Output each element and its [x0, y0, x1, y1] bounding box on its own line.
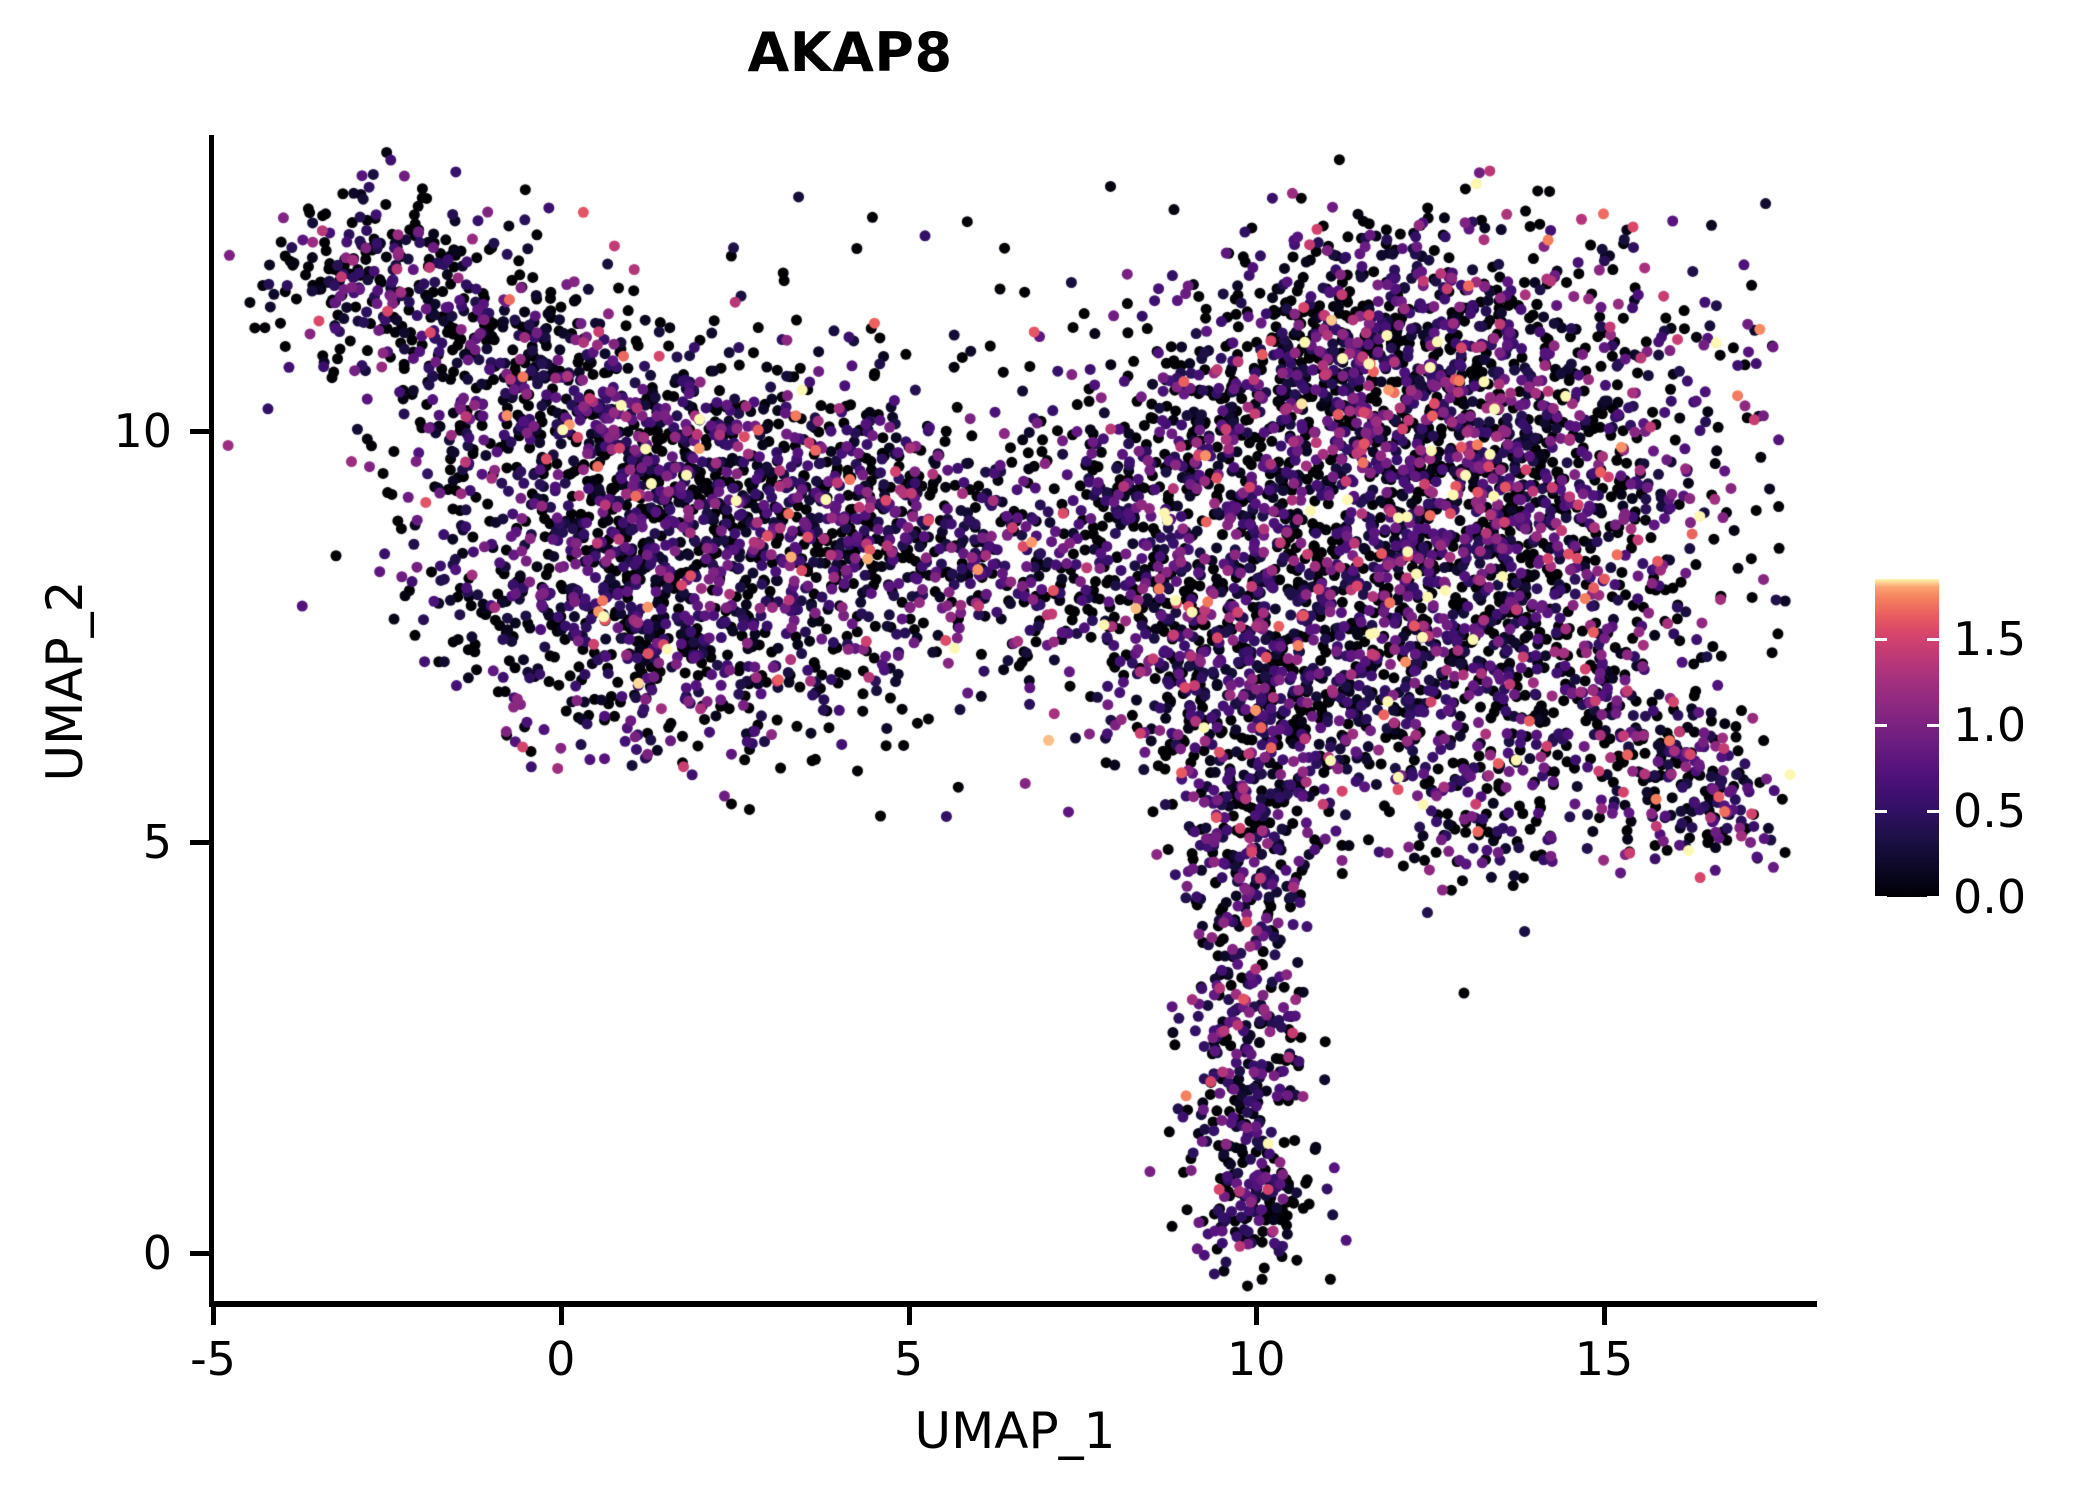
- plot-area: [213, 135, 1817, 1304]
- colorbar-tick-0.5: [1927, 810, 1939, 813]
- scatter-points-layer: [213, 135, 1817, 1304]
- x-ticklabel-5: 5: [809, 1330, 1009, 1388]
- umap-feature-plot: AKAP8 -5051015 0510 UMAP_1 UMAP_2 0.00.5…: [0, 0, 2100, 1500]
- colorbar-tick-0.0: [1875, 896, 1887, 899]
- y-axis-label: UMAP_2: [34, 381, 96, 981]
- x-tick--5: [211, 1305, 216, 1325]
- colorbar-ticklabel-0.5: 0.5: [1953, 782, 2100, 840]
- y-ticklabel-0: 0: [0, 1224, 172, 1282]
- colorbar-ticklabel-1.0: 1.0: [1953, 696, 2100, 754]
- colorbar: 0.00.51.01.5: [1875, 579, 2100, 899]
- colorbar-ticklabel-0.0: 0.0: [1953, 868, 2100, 926]
- page-title: AKAP8: [0, 18, 1700, 88]
- colorbar-tick-1.5: [1875, 638, 1887, 641]
- y-tick-0: [190, 1251, 210, 1256]
- colorbar-tick-0.0: [1927, 896, 1939, 899]
- x-axis-label: UMAP_1: [213, 1400, 1817, 1462]
- x-ticklabel-10: 10: [1156, 1330, 1356, 1388]
- x-ticklabel--5: -5: [113, 1330, 313, 1388]
- colorbar-tick-1.0: [1927, 724, 1939, 727]
- y-tick-10: [190, 429, 210, 434]
- colorbar-tick-1.0: [1875, 724, 1887, 727]
- x-tick-15: [1602, 1305, 1607, 1325]
- x-ticklabel-15: 15: [1504, 1330, 1704, 1388]
- x-tick-10: [1254, 1305, 1259, 1325]
- y-tick-5: [190, 840, 210, 845]
- colorbar-tick-1.5: [1927, 638, 1939, 641]
- x-axis-spine: [209, 1301, 1817, 1307]
- colorbar-gradient: [1875, 579, 1939, 897]
- x-tick-0: [559, 1305, 564, 1325]
- x-tick-5: [907, 1305, 912, 1325]
- colorbar-ticklabel-1.5: 1.5: [1953, 610, 2100, 668]
- x-ticklabel-0: 0: [461, 1330, 661, 1388]
- y-axis-spine: [209, 135, 214, 1307]
- colorbar-tick-0.5: [1875, 810, 1887, 813]
